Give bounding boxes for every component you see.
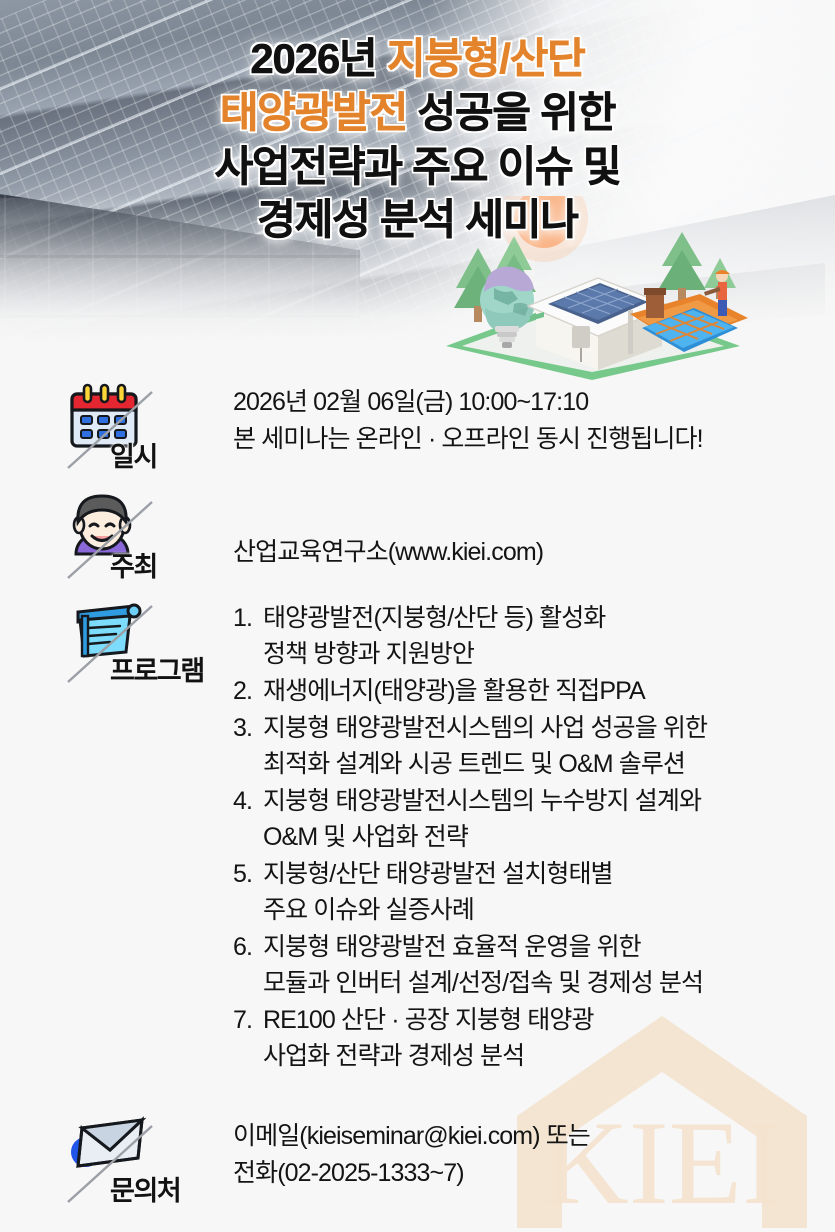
program-item-line: 주요 이슈와 실증사례 (263, 892, 833, 928)
program-item: 5. 지붕형/산단 태양광발전 설치형태별 주요 이슈와 실증사례 (233, 856, 833, 928)
title-line-1: 2026년 지붕형/산단 (0, 32, 835, 86)
program-item: 3. 지붕형 태양광발전시스템의 사업 성공을 위한 최적화 설계와 시공 트렌… (233, 710, 833, 782)
host-icon-group: 주최 (58, 492, 208, 584)
date-line-2: 본 세미나는 온라인 · 오프라인 동시 진행됩니다! (233, 421, 823, 458)
program-item-line: 정책 방향과 지원방안 (263, 636, 833, 672)
program-item-line: 지붕형 태양광발전 효율적 운영을 위한 (263, 929, 833, 965)
contact-label: 문의처 (110, 1169, 180, 1208)
contact-text: 이메일(kieiseminar@kiei.com) 또는 전화(02-2025-… (233, 1118, 823, 1191)
title-line-1-highlight: 지붕형/산단 (387, 35, 585, 82)
title-line-2-highlight: 태양광발전 (220, 89, 407, 136)
date-text: 2026년 02월 06일(금) 10:00~17:10 본 세미나는 온라인 … (233, 384, 823, 457)
seminar-poster: 2026년 지붕형/산단 태양광발전 성공을 위한 사업전략과 주요 이슈 및 … (0, 0, 835, 1232)
program-item-number: 3. (233, 710, 261, 746)
program-item-line: RE100 산단 · 공장 지붕형 태양광 (263, 1002, 833, 1038)
program-item-line: 지붕형 태양광발전시스템의 사업 성공을 위한 (263, 710, 833, 746)
chimney (646, 292, 664, 318)
title-line-3: 사업전략과 주요 이슈 및 (0, 140, 835, 194)
program-item: 2. 재생에너지(태양광)을 활용한 직접PPA (233, 673, 833, 709)
program-item-number: 2. (233, 673, 261, 709)
program-item-line: 재생에너지(태양광)을 활용한 직접PPA (263, 673, 833, 709)
title-line-2: 태양광발전 성공을 위한 (0, 86, 835, 140)
program-item-line: 사업화 전략과 경제성 분석 (263, 1038, 833, 1074)
program-item-line: 지붕형/산단 태양광발전 설치형태별 (263, 856, 833, 892)
program-icon-group: 프로그램 (58, 596, 208, 688)
host-line-1: 산업교육연구소(www.kiei.com) (233, 534, 823, 571)
date-line-1: 2026년 02월 06일(금) 10:00~17:10 (233, 384, 823, 421)
program-item-line: 태양광발전(지붕형/산단 등) 활성화 (263, 600, 833, 636)
title-line-2-plain: 성공을 위한 (407, 89, 615, 136)
program-item-line: 모듈과 인버터 설계/선정/접속 및 경제성 분석 (263, 965, 833, 1001)
contact-icon-group: 문의처 (58, 1116, 208, 1208)
program-item-number: 6. (233, 929, 261, 965)
date-label: 일시 (110, 435, 157, 474)
program-item-line: 최적화 설계와 시공 트렌드 및 O&M 솔루션 (263, 746, 833, 782)
program-list: 1. 태양광발전(지붕형/산단 등) 활성화 정책 방향과 지원방안 2. 재생… (233, 600, 833, 1075)
program-item-number: 7. (233, 1002, 261, 1038)
host-text: 산업교육연구소(www.kiei.com) (233, 534, 823, 571)
program-item-line: 지붕형 태양광발전시스템의 누수방지 설계와 (263, 783, 833, 819)
program-item-number: 4. (233, 783, 261, 819)
program-item-number: 1. (233, 600, 261, 636)
date-icon-group: 일시 (58, 382, 208, 474)
program-item: 7. RE100 산단 · 공장 지붕형 태양광 사업화 전략과 경제성 분석 (233, 1002, 833, 1074)
program-item-line: O&M 및 사업화 전략 (263, 819, 833, 855)
contact-line-2: 전화(02-2025-1333~7) (233, 1155, 823, 1192)
program-item: 1. 태양광발전(지붕형/산단 등) 활성화 정책 방향과 지원방안 (233, 600, 833, 672)
title-line-1-plain: 2026년 (250, 35, 387, 82)
program-item: 4. 지붕형 태양광발전시스템의 누수방지 설계와 O&M 및 사업화 전략 (233, 783, 833, 855)
page-title: 2026년 지붕형/산단 태양광발전 성공을 위한 사업전략과 주요 이슈 및 … (0, 32, 835, 247)
program-label: 프로그램 (110, 649, 204, 688)
program-item-number: 5. (233, 856, 261, 892)
program-item: 6. 지붕형 태양광발전 효율적 운영을 위한 모듈과 인버터 설계/선정/접속… (233, 929, 833, 1001)
host-label: 주최 (110, 545, 157, 584)
title-line-4: 경제성 분석 세미나 (0, 193, 835, 247)
wall-meter (572, 326, 590, 348)
contact-line-1: 이메일(kieiseminar@kiei.com) 또는 (233, 1118, 823, 1155)
